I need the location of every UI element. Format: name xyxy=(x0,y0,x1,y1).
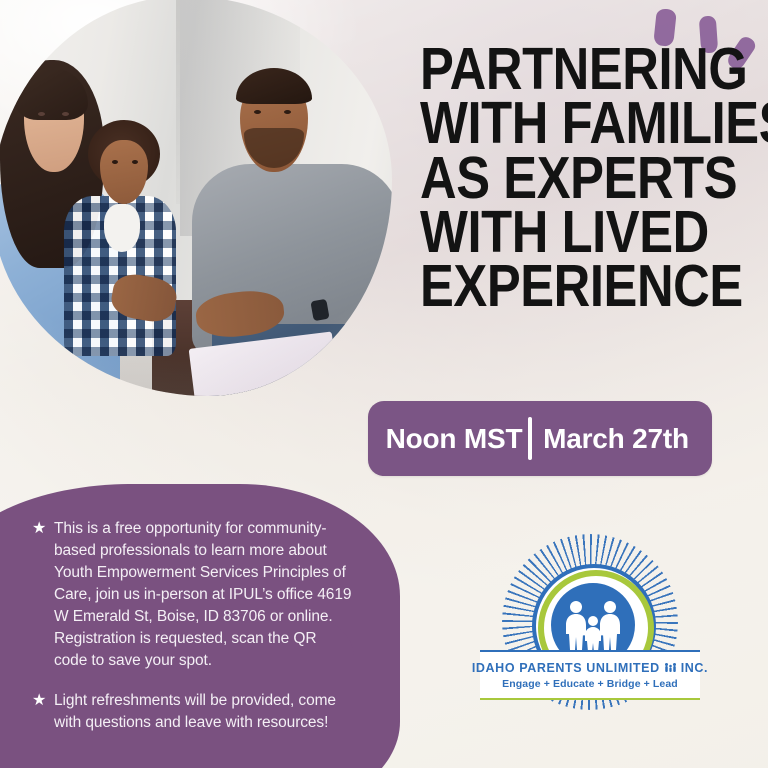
star-icon: ★ xyxy=(32,518,54,540)
family-photo xyxy=(0,0,392,396)
logo-name-row: IDAHO PARENTS UNLIMITED INC. xyxy=(472,661,708,675)
logo-name-suffix: INC. xyxy=(681,661,708,675)
event-date: March 27th xyxy=(532,423,700,455)
logo-nameplate: IDAHO PARENTS UNLIMITED INC. Engage + Ed… xyxy=(480,650,700,700)
bullet-text-2: Light refreshments will be provided, com… xyxy=(54,690,352,734)
headline-line-5: EXPERIENCE xyxy=(420,259,704,313)
event-datetime-banner: Noon MST March 27th xyxy=(368,401,712,476)
headline-line-2: WITH FAMILIES xyxy=(420,96,704,150)
flyer-canvas: PARTNERING WITH FAMILIES AS EXPERTS WITH… xyxy=(0,0,768,768)
family-photo-inner xyxy=(0,0,392,396)
headline: PARTNERING WITH FAMILIES AS EXPERTS WITH… xyxy=(420,42,704,313)
bullet-text-1: This is a free opportunity for community… xyxy=(54,518,352,672)
star-icon: ★ xyxy=(32,690,54,712)
logo-tagline: Engage + Educate + Bridge + Lead xyxy=(502,678,678,690)
family-mark-icon xyxy=(664,662,677,673)
info-bullet-list: ★ This is a free opportunity for communi… xyxy=(32,518,352,752)
headline-line-3: AS EXPERTS xyxy=(420,151,704,205)
headline-line-4: WITH LIVED xyxy=(420,205,704,259)
photo-vignette xyxy=(0,0,392,396)
event-time: Noon MST xyxy=(380,423,528,455)
headline-line-1: PARTNERING xyxy=(420,42,704,96)
logo-organization-name: IDAHO PARENTS UNLIMITED xyxy=(472,661,660,675)
list-item: ★ This is a free opportunity for communi… xyxy=(32,518,352,672)
list-item: ★ Light refreshments will be provided, c… xyxy=(32,690,352,734)
ipul-logo: IDAHO PARENTS UNLIMITED INC. Engage + Ed… xyxy=(480,538,700,698)
